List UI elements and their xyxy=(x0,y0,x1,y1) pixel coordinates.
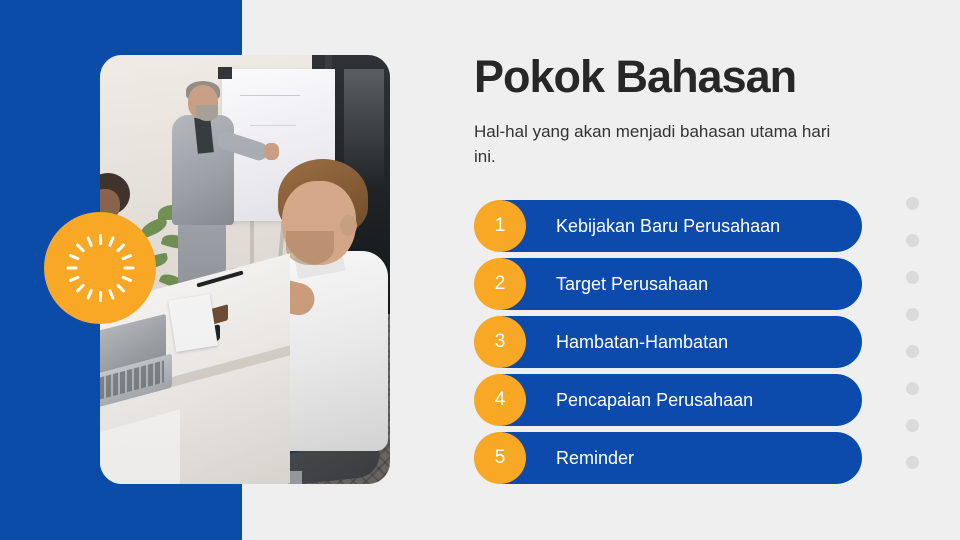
sunburst-ray xyxy=(107,236,114,247)
agenda-item-2[interactable]: Target Perusahaan2 xyxy=(474,258,864,310)
agenda-item-number: 5 xyxy=(474,432,526,484)
sunburst-ray xyxy=(99,291,102,302)
agenda-item-label: Hambatan-Hambatan xyxy=(556,316,728,368)
sunburst-ray xyxy=(121,275,132,282)
sunburst-ray xyxy=(99,234,102,245)
sunburst-icon xyxy=(44,212,156,324)
agenda-item-label: Reminder xyxy=(556,432,634,484)
sunburst-ray xyxy=(75,243,85,253)
sunburst-ray xyxy=(107,289,114,300)
agenda-item-number: 1 xyxy=(474,200,526,252)
decorative-dot xyxy=(906,197,919,210)
agenda-item-1[interactable]: Kebijakan Baru Perusahaan1 xyxy=(474,200,864,252)
agenda-item-pill xyxy=(478,432,862,484)
sunburst-ray xyxy=(86,236,93,247)
agenda-item-4[interactable]: Pencapaian Perusahaan4 xyxy=(474,374,864,426)
decorative-dot xyxy=(906,308,919,321)
sunburst-ray xyxy=(115,243,125,253)
decorative-dot-column xyxy=(906,197,920,497)
sunburst-ray xyxy=(123,267,134,270)
page-title: Pokok Bahasan xyxy=(474,53,874,100)
page-subtitle: Hal-hal yang akan menjadi bahasan utama … xyxy=(474,120,846,169)
decorative-dot xyxy=(906,456,919,469)
sunburst-ray xyxy=(121,254,132,261)
agenda-item-label: Kebijakan Baru Perusahaan xyxy=(556,200,780,252)
sunburst-ray xyxy=(66,267,77,270)
agenda-item-3[interactable]: Hambatan-Hambatan3 xyxy=(474,316,864,368)
slide-canvas: Pokok Bahasan Hal-hal yang akan menjadi … xyxy=(0,0,960,540)
agenda-item-number: 4 xyxy=(474,374,526,426)
decorative-dot xyxy=(906,382,919,395)
agenda-list: Kebijakan Baru Perusahaan1Target Perusah… xyxy=(474,200,864,490)
sunburst-ray xyxy=(75,283,85,293)
decorative-dot xyxy=(906,419,919,432)
sunburst-ray xyxy=(68,275,79,282)
sunburst-ray xyxy=(115,283,125,293)
sunburst-badge xyxy=(44,212,156,324)
agenda-item-label: Target Perusahaan xyxy=(556,258,708,310)
decorative-dot xyxy=(906,345,919,358)
agenda-item-label: Pencapaian Perusahaan xyxy=(556,374,753,426)
decorative-dot xyxy=(906,271,919,284)
agenda-item-5[interactable]: Reminder5 xyxy=(474,432,864,484)
agenda-item-number: 3 xyxy=(474,316,526,368)
agenda-item-number: 2 xyxy=(474,258,526,310)
sunburst-ray xyxy=(86,289,93,300)
decorative-dot xyxy=(906,234,919,247)
sunburst-ray xyxy=(68,254,79,261)
